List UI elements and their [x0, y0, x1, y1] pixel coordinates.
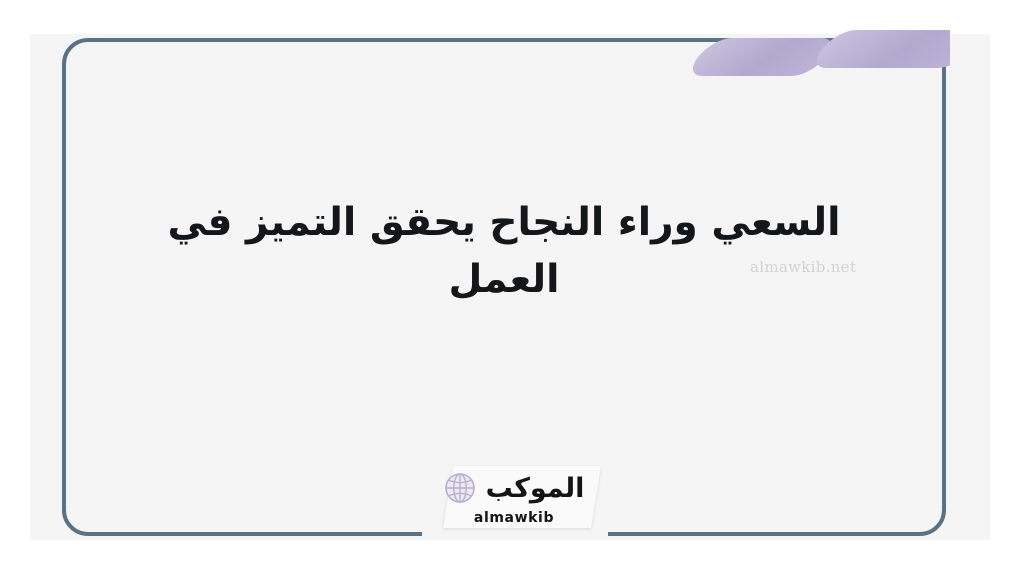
logo-latin-wordmark: almawkib [414, 510, 614, 526]
brand-logo[interactable]: الموكب almawkib [414, 460, 614, 538]
page-title: السعي وراء النجاح يحقق التميز في العمل [124, 195, 884, 308]
poster-canvas: السعي وراء النجاح يحقق التميز في العمل a… [0, 0, 1024, 576]
globe-icon [444, 472, 476, 504]
watermark: almawkib.net [750, 258, 856, 276]
logo-arabic-wordmark: الموكب [486, 475, 585, 502]
logo-primary-row: الموكب [414, 468, 614, 508]
